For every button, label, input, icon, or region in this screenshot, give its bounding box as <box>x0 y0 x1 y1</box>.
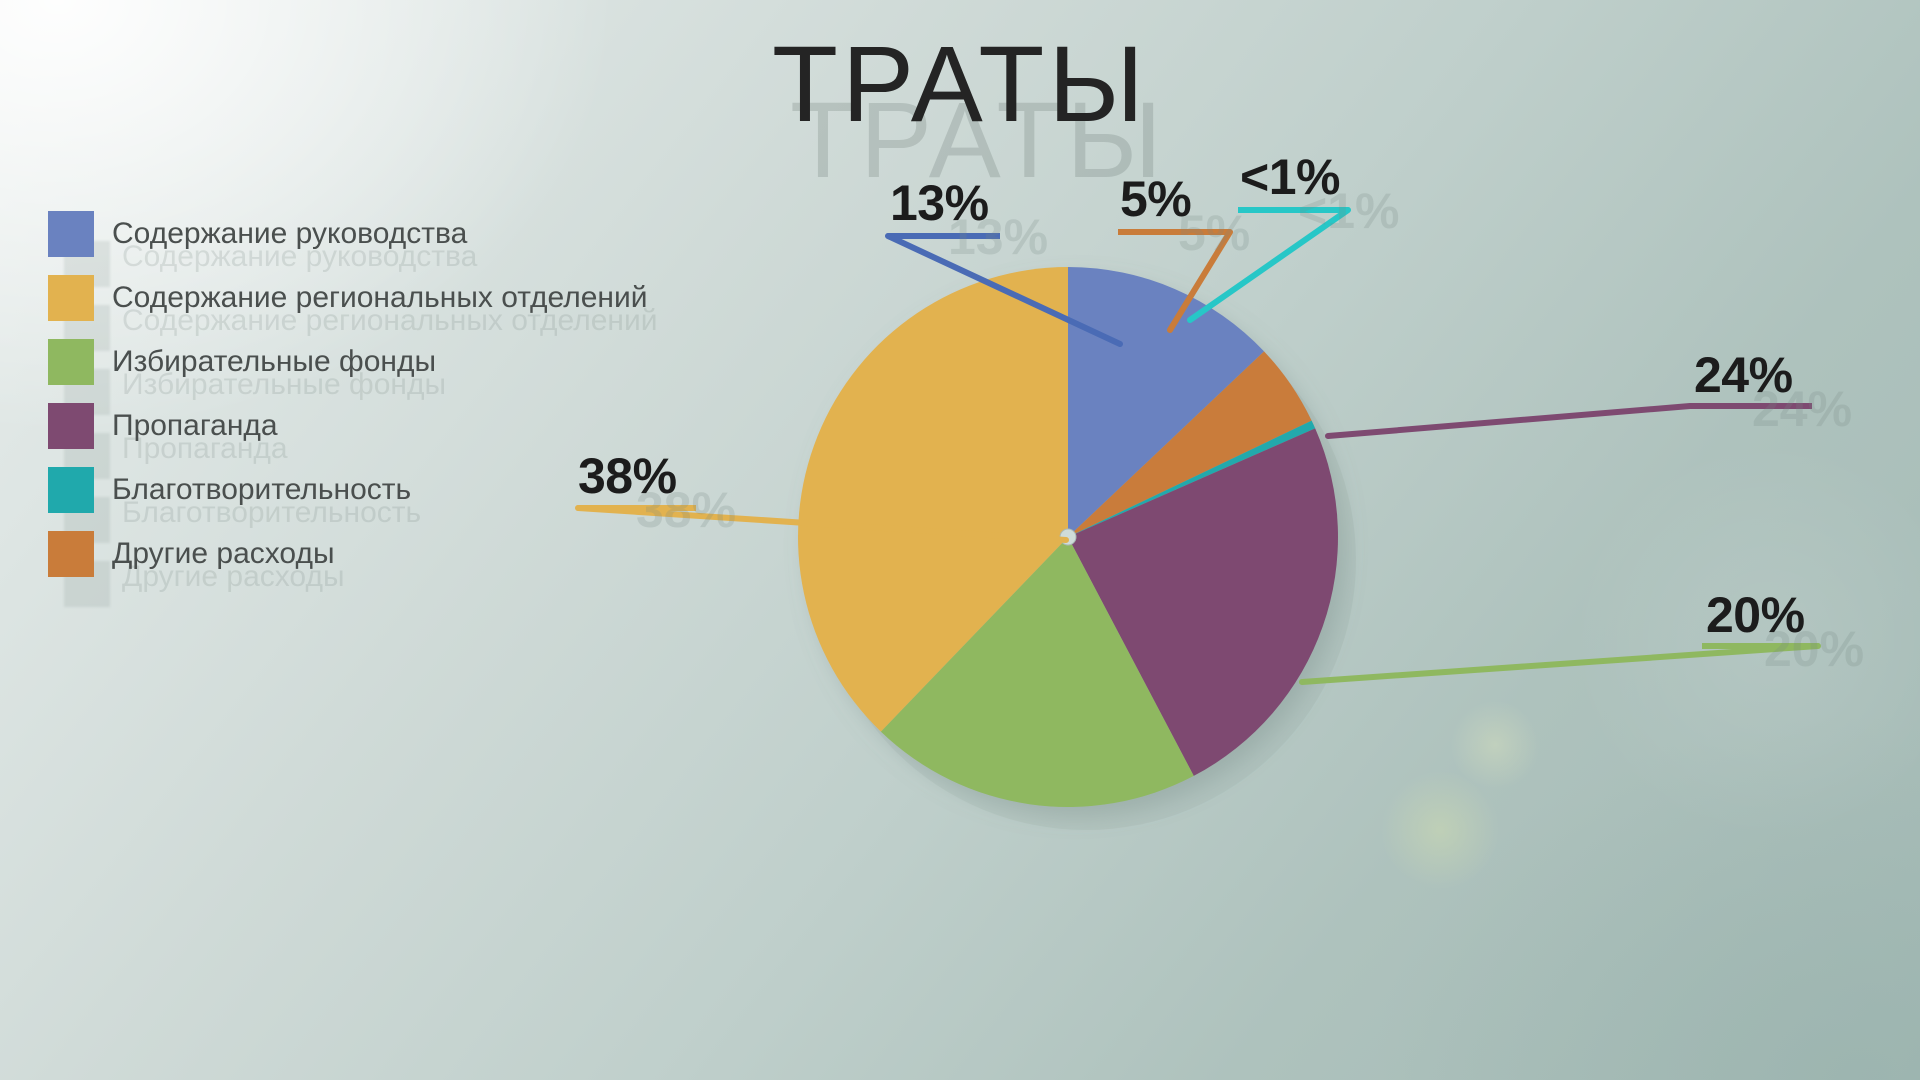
callout-percent-lt1: <1% <box>1240 152 1340 202</box>
leader-24-pointer <box>1328 406 1690 436</box>
callout-percent-5: 5% <box>1120 174 1191 224</box>
callout-percent-24: 24% <box>1694 350 1793 400</box>
callout-percent-38: 38% <box>578 451 677 501</box>
callout-percent-20: 20% <box>1706 590 1805 640</box>
legend-item-label: Содержание региональных отделений <box>112 281 648 315</box>
legend-item-label: Избирательные фонды <box>112 345 436 379</box>
callout-percent-13: 13% <box>890 178 989 228</box>
legend-item-label: Содержание руководства <box>112 217 467 251</box>
legend-item-label: Другие расходы <box>112 537 335 571</box>
legend-item-label: Пропаганда <box>112 409 278 443</box>
slide-canvas: ТРАТЫ ТРАТЫ Содержание руководства Содер… <box>0 0 1920 1080</box>
legend-item-label: Благотворительность <box>112 473 411 507</box>
leader-20-pointer <box>1302 646 1818 682</box>
